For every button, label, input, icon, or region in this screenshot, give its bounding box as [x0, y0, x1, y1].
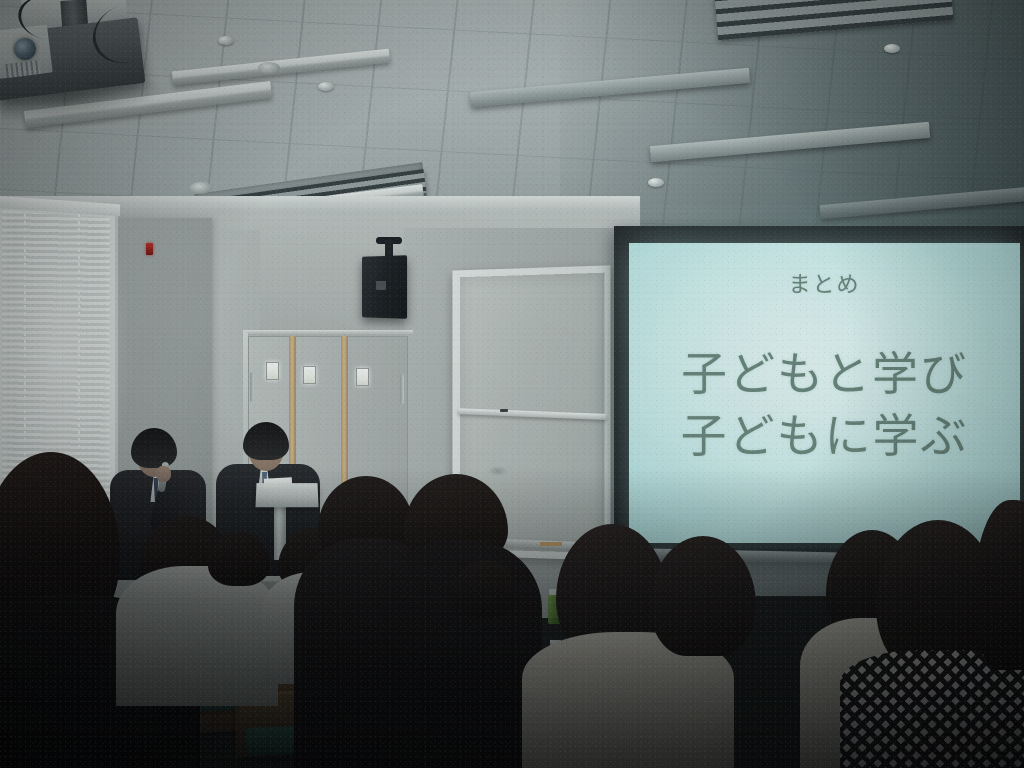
slide-line-2: 子どもに学ぶ	[629, 400, 1020, 466]
door-handle-left[interactable]	[250, 372, 254, 402]
attendee-white-shirt-left-top	[116, 566, 278, 706]
door-handle-right[interactable]	[400, 374, 404, 404]
slide-line-1: 子どもと学び	[629, 338, 1020, 404]
sprinkler-head-1	[218, 36, 234, 45]
sprinkler-head-4	[648, 178, 664, 187]
projection-screen: まとめ 子どもと学び 子どもに学ぶ	[629, 243, 1020, 543]
sprinkler-head-2	[318, 82, 334, 91]
door-vision-window-2	[303, 366, 316, 384]
slide-title: まとめ	[629, 267, 1020, 299]
presenter1-hand	[156, 466, 171, 482]
door-vision-window-1	[266, 362, 279, 380]
whiteboard-smudge	[488, 466, 508, 476]
whiteboard-marker[interactable]	[500, 409, 508, 412]
smoke-detector-2	[190, 182, 212, 194]
lecture-room-photo: まとめ 子どもと学び 子どもに学ぶ	[0, 0, 1024, 768]
door-vision-window-3	[356, 368, 369, 386]
sprinkler-head-3	[884, 44, 900, 53]
fire-alarm-indicator	[146, 243, 153, 255]
lectern-papers	[264, 477, 292, 488]
speaker-badge-icon	[376, 281, 386, 290]
smoke-detector-1	[258, 62, 280, 74]
door-header-rail	[243, 330, 413, 335]
whiteboard-label	[540, 542, 562, 546]
